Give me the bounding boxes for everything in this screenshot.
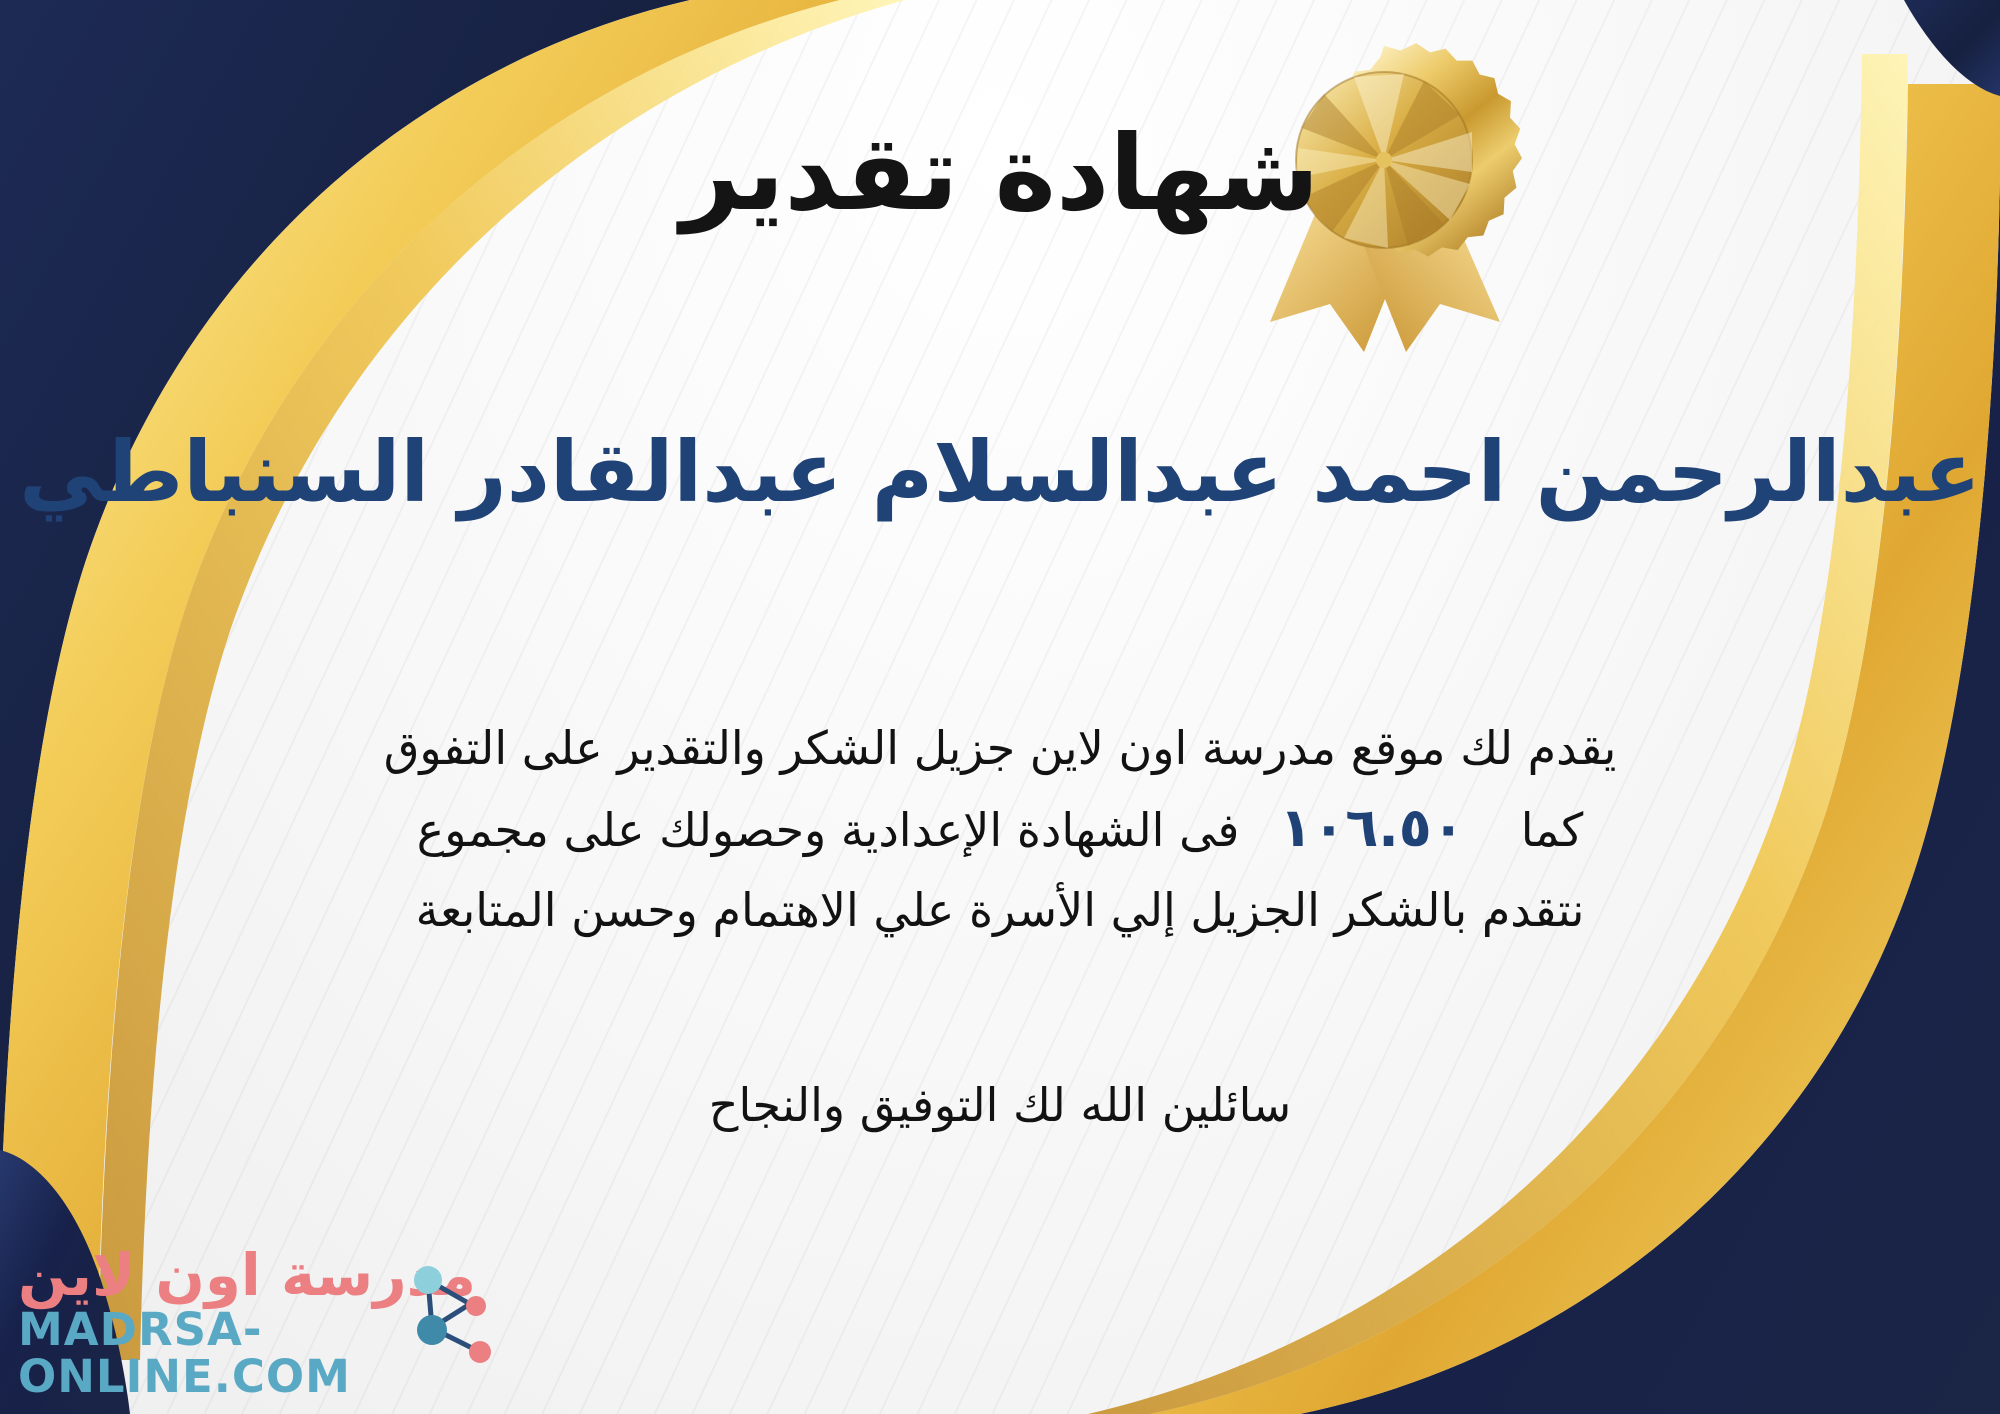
body-line-3: نتقدم بالشكر الجزيل إلي الأسرة علي الاهت… [180, 870, 1820, 950]
body-line-1: يقدم لك موقع مدرسة اون لاين جزيل الشكر و… [180, 708, 1820, 788]
certificate-title: شهادة تقدير [0, 116, 2000, 230]
certificate-canvas: شهادة تقدير عبدالرحمن احمد عبدالسلام عبد… [0, 0, 2000, 1414]
body-line-2-prefix: فى الشهادة الإعدادية وحصولك على مجموع [417, 803, 1240, 857]
recipient-name: عبدالرحمن احمد عبدالسلام عبدالقادر السنب… [0, 424, 2000, 521]
closing-wish: سائلين الله لك التوفيق والنجاح [0, 1076, 2000, 1136]
grade-value: ١٠٦.٥٠ [1239, 788, 1520, 868]
certificate-body: يقدم لك موقع مدرسة اون لاين جزيل الشكر و… [180, 708, 1820, 950]
body-line-2-suffix: كما [1521, 803, 1584, 857]
network-nodes-icon [398, 1254, 494, 1374]
brand-logo[interactable]: مدرسة اون لاين MADRSA-ONLINE.COM [18, 1248, 488, 1398]
body-line-2: كما١٠٦.٥٠فى الشهادة الإعدادية وحصولك على… [180, 788, 1820, 870]
